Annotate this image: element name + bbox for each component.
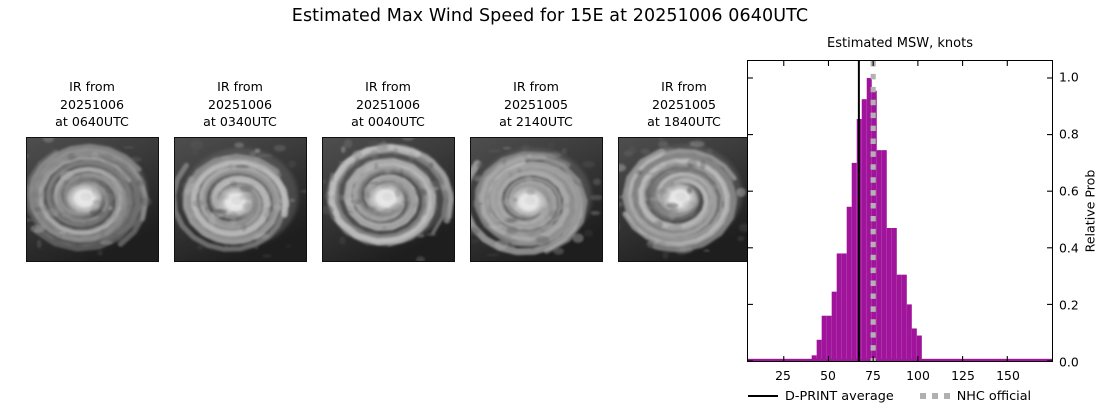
chart-legend: D-PRINT average NHC official [748,386,1093,406]
histogram-bar [951,360,956,361]
y-tick-label: 0.0 [1059,355,1079,370]
y-tick-label: 1.0 [1059,70,1079,85]
ir-satellite-image [27,138,158,261]
histogram-bar [912,328,917,361]
x-tick-label: 25 [775,368,791,383]
x-tick-label: 50 [820,368,836,383]
satellite-panel: IR from 20251005 at 1840UTC [610,78,758,262]
histogram-bar [762,360,767,361]
y-axis-label: Relative Prob [1083,170,1098,253]
satellite-panel: IR from 20251006 at 0040UTC [314,78,462,262]
histogram-bar [852,163,857,361]
histogram-bar [802,360,807,361]
satellite-panel-caption: IR from 20251006 at 0340UTC [166,78,314,131]
y-tick-label: 0.2 [1059,298,1079,313]
x-tick-label: 100 [906,368,930,383]
satellite-panel-caption: IR from 20251005 at 1840UTC [610,78,758,131]
satellite-panel-caption: IR from 20251005 at 2140UTC [462,78,610,131]
plot-area [747,60,1053,362]
histogram-bar [832,292,837,361]
histogram-bar [922,360,927,361]
histogram-bar [777,360,782,361]
y-tick-label: 0.4 [1059,241,1079,256]
histogram-bar [1023,360,1028,361]
nhc-line-swatch-icon [920,393,950,399]
x-tick-label: 75 [865,368,881,383]
histogram-bar [837,253,842,361]
histogram-bar [862,99,867,361]
histogram-bar [969,360,974,361]
dprint-line-swatch-icon [748,395,778,397]
histogram-bar [847,207,852,361]
ir-satellite-image [175,138,306,261]
histogram-bar [812,355,817,361]
ir-satellite-image [471,138,602,261]
histogram-bar [902,275,907,361]
histogram-bar [827,316,832,361]
satellite-panel: IR from 20251005 at 2140UTC [462,78,610,262]
y-tick-label: 0.8 [1059,127,1079,142]
histogram-bar [877,150,882,361]
satellite-image-frame [618,137,751,262]
satellite-panel-caption: IR from 20251006 at 0040UTC [314,78,462,131]
histogram-bar [882,150,887,361]
histogram-bar [892,228,897,361]
histogram-bars [748,78,1052,361]
histogram-bar [932,360,937,361]
satellite-image-frame [174,137,307,262]
ir-satellite-image [619,138,750,261]
ir-satellite-image [323,138,454,261]
histogram-bar [817,340,822,361]
satellite-panel-caption: IR from 20251006 at 0640UTC [18,78,166,131]
histogram-bar [907,304,912,361]
histogram-bar [822,316,827,361]
histogram-bar [797,360,802,361]
satellite-panel: IR from 20251006 at 0340UTC [166,78,314,262]
x-tick-label: 150 [996,368,1020,383]
histogram-bar [927,360,932,361]
histogram-bar [1041,360,1046,361]
y-tick-label: 0.6 [1059,184,1079,199]
satellite-image-frame [26,137,159,262]
histogram-bar [807,360,812,361]
histogram-bar [772,360,777,361]
page-title: Estimated Max Wind Speed for 15E at 2025… [0,6,1100,26]
chart-title: Estimated MSW, knots [745,36,1055,51]
histogram-chart: Estimated MSW, knots Relative Prob 25507… [745,36,1055,409]
histogram-bar [887,228,892,361]
satellite-image-strip: IR from 20251006 at 0640UTCIR from 20251… [0,78,740,278]
histogram-bar [842,253,847,361]
histogram-bar [767,360,772,361]
histogram-bar [787,360,792,361]
legend-label-dprint: D-PRINT average [785,389,894,404]
histogram-bar [792,360,797,361]
satellite-image-frame [470,137,603,262]
histogram-bar [897,275,902,361]
x-tick-label: 125 [951,368,975,383]
histogram-bar [987,360,992,361]
histogram-bar [937,360,942,361]
histogram-svg [748,61,1052,361]
satellite-image-frame [322,137,455,262]
legend-entry-nhc-official: NHC official [920,389,1031,404]
legend-entry-dprint-average: D-PRINT average [748,389,894,404]
satellite-panel: IR from 20251006 at 0640UTC [18,78,166,262]
legend-label-nhc: NHC official [957,389,1031,404]
